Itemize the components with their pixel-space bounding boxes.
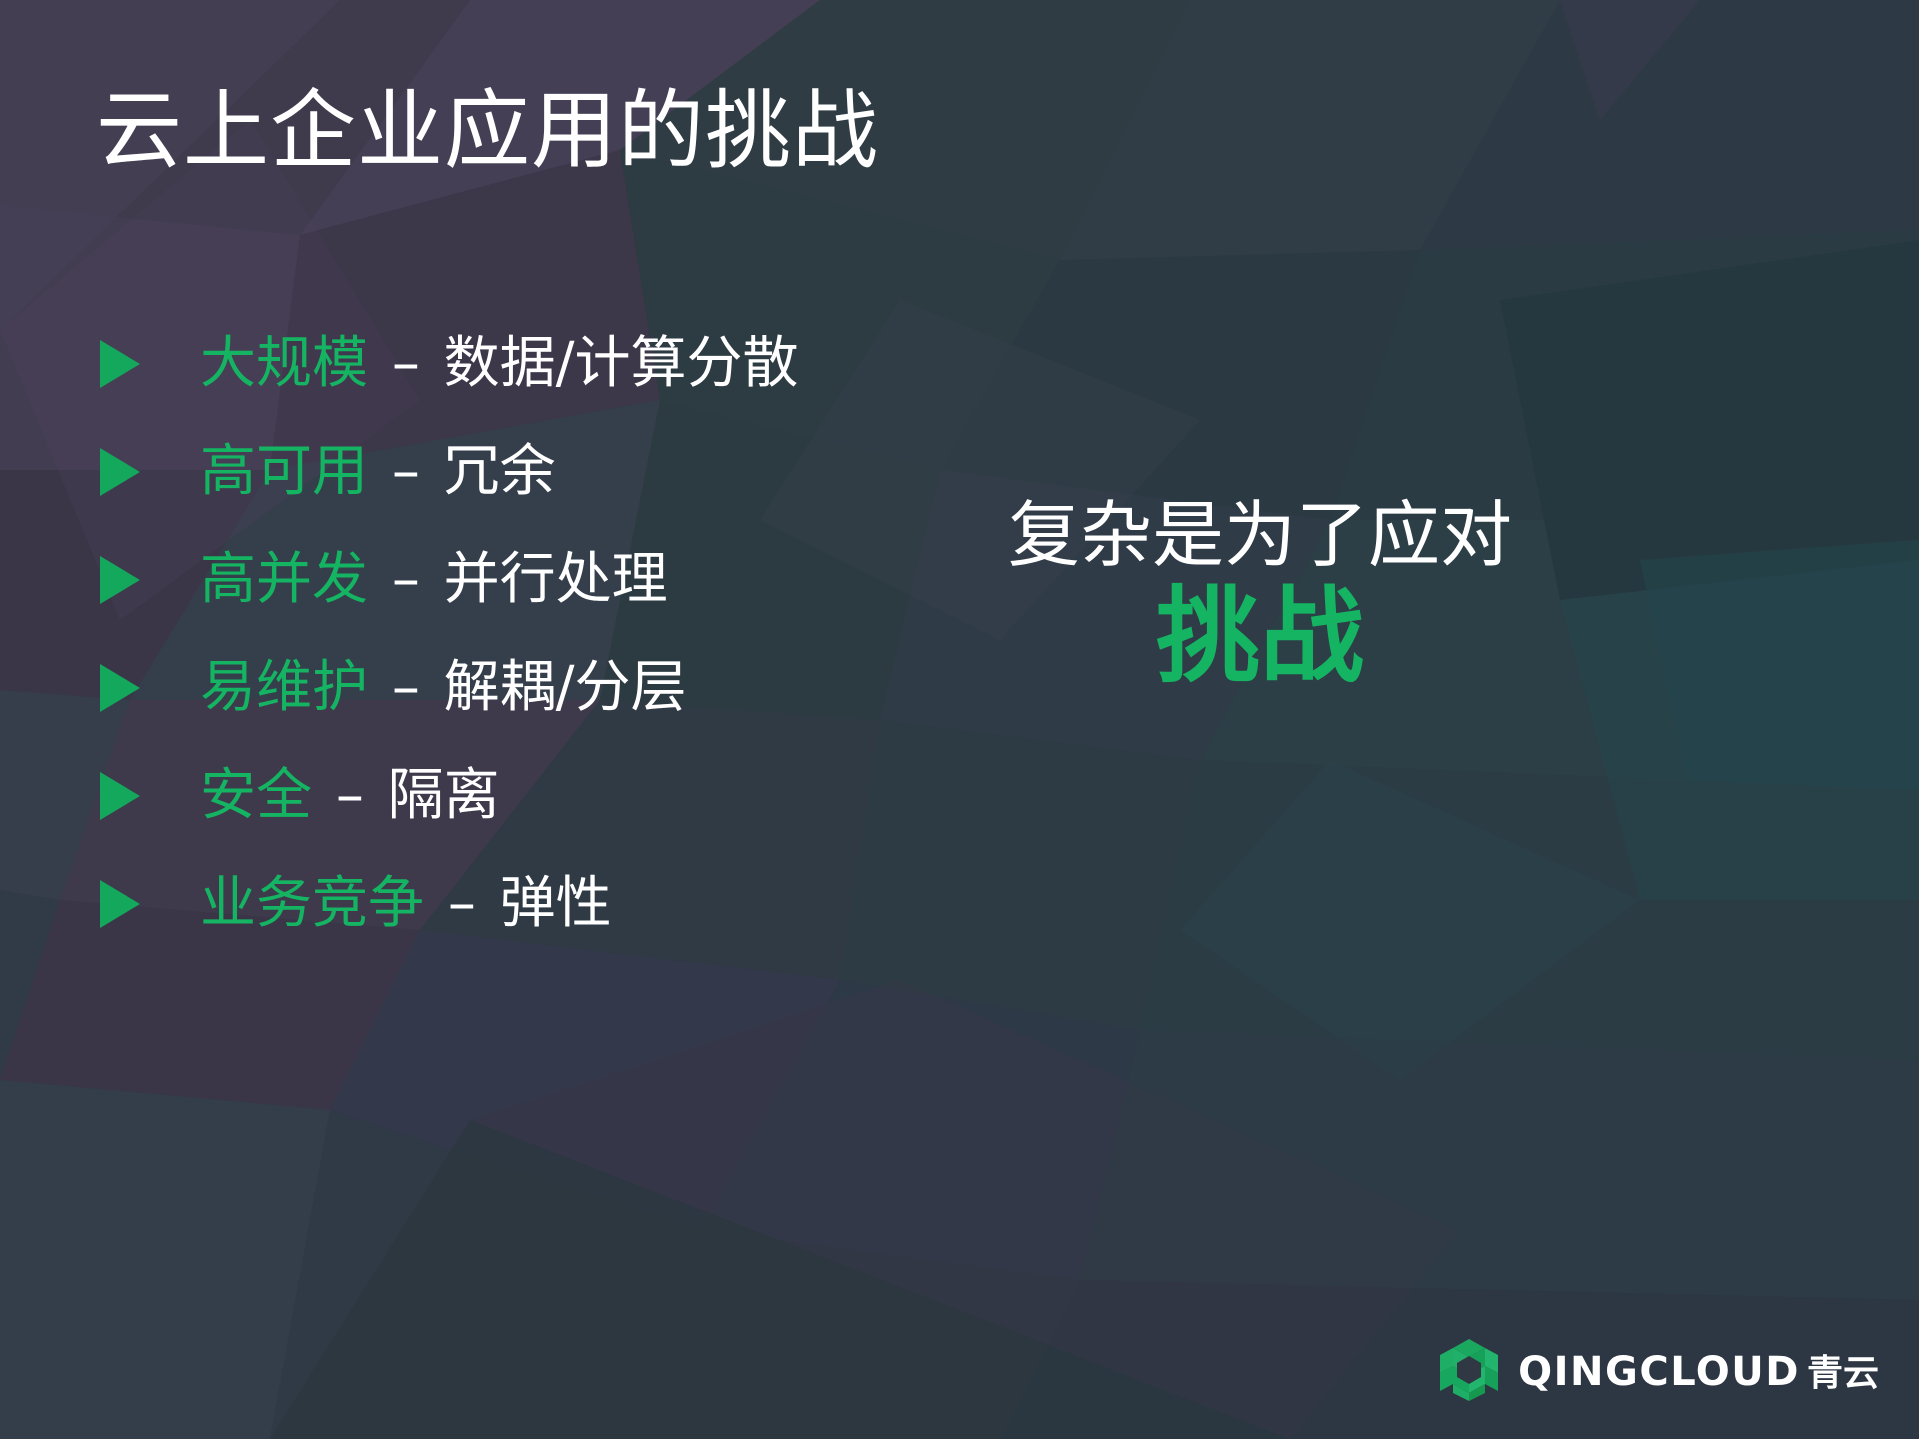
triangle-right-icon xyxy=(100,340,140,388)
list-item-value: 解耦/分层 xyxy=(444,655,687,720)
list-item-value: 隔离 xyxy=(388,763,500,828)
list-item: 安全 – 隔离 xyxy=(100,742,1000,850)
list-item: 大规模 – 数据/计算分散 xyxy=(100,310,1000,418)
brand-logo: QINGCLOUD 青云 xyxy=(1438,1337,1879,1403)
triangle-right-icon xyxy=(100,880,140,928)
page-title: 云上企业应用的挑战 xyxy=(96,82,879,181)
list-item-text: 高可用 – 冗余 xyxy=(200,444,556,500)
triangle-right-icon xyxy=(100,664,140,712)
triangle-right-icon xyxy=(100,772,140,820)
list-item-dash: – xyxy=(386,439,426,504)
list-item-value: 并行处理 xyxy=(444,547,668,612)
list-item: 高可用 – 冗余 xyxy=(100,418,1000,526)
list-item-key: 业务竞争 xyxy=(200,871,424,936)
list-item-key: 安全 xyxy=(200,763,312,828)
list-item-dash: – xyxy=(442,871,482,936)
list-item-dash: – xyxy=(386,547,426,612)
list-item-dash: – xyxy=(386,331,426,396)
list-item-key: 大规模 xyxy=(200,331,368,396)
qingcloud-hexagon-icon xyxy=(1438,1337,1500,1403)
brand-wordmark-cn: 青云 xyxy=(1807,1344,1879,1396)
list-item-text: 易维护 – 解耦/分层 xyxy=(200,660,687,716)
brand-wordmark-en: QINGCLOUD xyxy=(1518,1349,1800,1395)
triangle-right-icon xyxy=(100,556,140,604)
list-item-dash: – xyxy=(330,763,370,828)
triangle-right-icon xyxy=(100,448,140,496)
callout-block: 复杂是为了应对 挑战 xyxy=(950,495,1570,694)
list-item-text: 高并发 – 并行处理 xyxy=(200,552,668,608)
list-item: 易维护 – 解耦/分层 xyxy=(100,634,1000,742)
list-item-key: 高并发 xyxy=(200,547,368,612)
slide-canvas: 云上企业应用的挑战 大规模 – 数据/计算分散 高可用 – 冗余 高并发 – xyxy=(0,0,1919,1439)
list-item-text: 业务竞争 – 弹性 xyxy=(200,876,612,932)
list-item-key: 易维护 xyxy=(200,655,368,720)
list-item: 高并发 – 并行处理 xyxy=(100,526,1000,634)
list-item-text: 大规模 – 数据/计算分散 xyxy=(200,336,799,392)
list-item-value: 冗余 xyxy=(444,439,556,504)
list-item-key: 高可用 xyxy=(200,439,368,504)
callout-line-primary: 复杂是为了应对 xyxy=(950,495,1570,576)
list-item-dash: – xyxy=(386,655,426,720)
brand-wordmark: QINGCLOUD 青云 xyxy=(1518,1344,1879,1396)
list-item-value: 数据/计算分散 xyxy=(444,331,799,396)
list-item-text: 安全 – 隔离 xyxy=(200,768,500,824)
callout-line-emphasis: 挑战 xyxy=(950,578,1570,694)
challenge-list: 大规模 – 数据/计算分散 高可用 – 冗余 高并发 – 并行处理 xyxy=(100,310,1000,958)
list-item-value: 弹性 xyxy=(500,871,612,936)
list-item: 业务竞争 – 弹性 xyxy=(100,850,1000,958)
